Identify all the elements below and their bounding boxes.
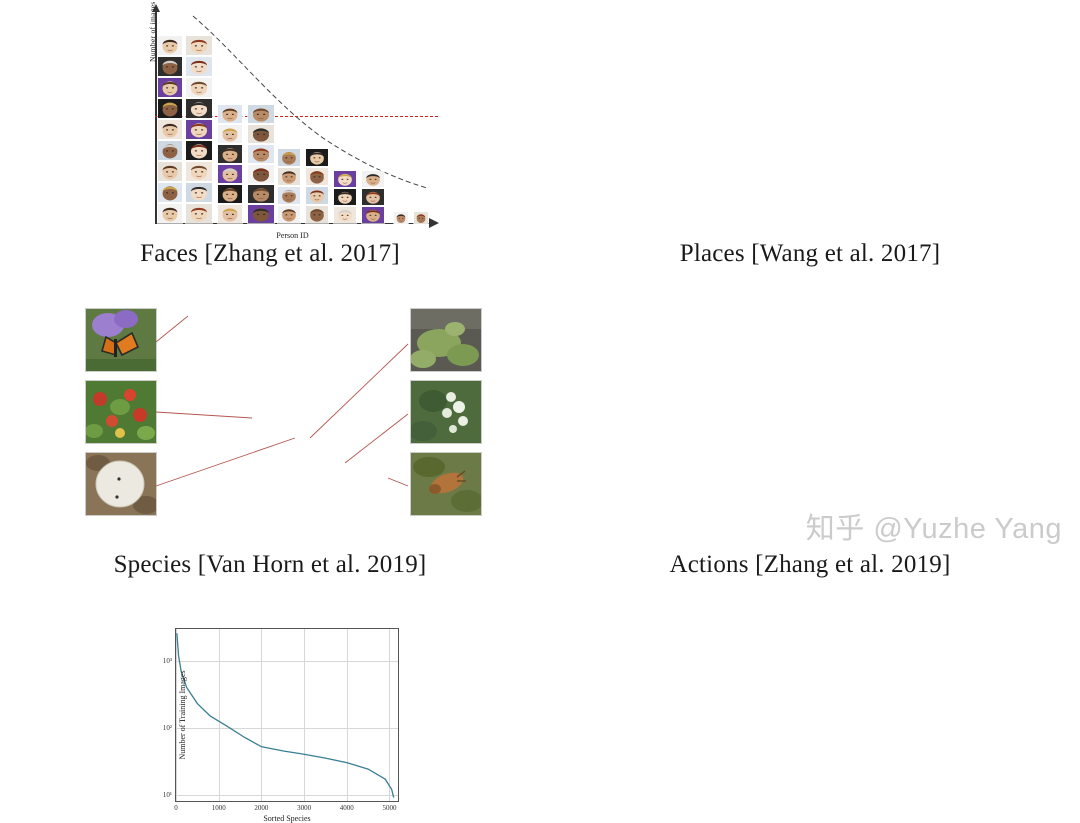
face-thumbnail	[305, 186, 329, 205]
face-thumbnail	[333, 206, 357, 224]
faces-column	[393, 210, 409, 224]
face-thumbnail	[157, 119, 183, 140]
face-thumbnail	[217, 104, 243, 124]
species-y-tick-label: 10¹	[163, 791, 172, 799]
panel-species: 10¹10²10³ 010002000300040005000 Number o…	[0, 296, 540, 591]
faces-column	[361, 170, 385, 224]
panel-faces: Number of images per person Person ID	[0, 0, 540, 296]
places-figure: 020040060080010001200 050100150200250300…	[540, 0, 1080, 238]
actions-figure: 0200004000060000800001000001200001400001…	[540, 296, 1080, 518]
faces-column	[305, 148, 329, 224]
species-curve	[176, 629, 398, 801]
faces-column	[277, 148, 301, 224]
face-thumbnail	[247, 144, 275, 164]
face-thumbnail	[361, 170, 385, 188]
face-thumbnail	[393, 210, 409, 224]
species-plot-area: 10¹10²10³ 010002000300040005000 Number o…	[175, 628, 399, 802]
face-thumbnail	[157, 98, 183, 119]
face-thumbnail	[333, 188, 357, 206]
face-thumbnail	[247, 164, 275, 184]
species-figure: 10¹10²10³ 010002000300040005000 Number o…	[0, 296, 540, 518]
faces-column	[333, 170, 357, 224]
face-thumbnail	[185, 161, 213, 182]
face-thumbnail	[247, 104, 275, 124]
faces-column	[217, 104, 243, 224]
face-thumbnail	[277, 167, 301, 186]
face-thumbnail	[157, 56, 183, 77]
face-thumbnail	[185, 119, 213, 140]
actions-caption: Actions [Zhang et al. 2019]	[540, 551, 1080, 579]
species-leader-lines	[0, 296, 540, 518]
face-thumbnail	[247, 124, 275, 144]
faces-column	[185, 35, 213, 224]
face-thumbnail	[413, 210, 429, 224]
places-caption: Places [Wang et al. 2017]	[540, 240, 1080, 268]
species-caption: Species [Van Horn et al. 2019]	[0, 551, 540, 579]
face-thumbnail	[157, 35, 183, 56]
figure-grid: Number of images per person Person ID	[0, 0, 1080, 591]
face-thumbnail	[157, 140, 183, 161]
face-thumbnail	[185, 35, 213, 56]
face-thumbnail	[305, 148, 329, 167]
species-x-axis-title: Sorted Species	[176, 814, 398, 823]
face-thumbnail	[185, 182, 213, 203]
face-thumbnail	[333, 170, 357, 188]
face-thumbnail	[305, 167, 329, 186]
species-x-tick-label: 3000	[297, 804, 311, 812]
face-thumbnail	[217, 184, 243, 204]
species-y-tick-label: 10³	[163, 657, 172, 665]
face-thumbnail	[247, 184, 275, 204]
face-thumbnail	[277, 205, 301, 224]
face-thumbnail	[185, 140, 213, 161]
species-x-tick-label: 5000	[382, 804, 396, 812]
panel-actions: 0200004000060000800001000001200001400001…	[540, 296, 1080, 591]
panel-places: 020040060080010001200 050100150200250300…	[540, 0, 1080, 296]
species-y-axis-title: Number of Training Images	[178, 670, 187, 759]
species-x-tick-label: 1000	[212, 804, 226, 812]
face-thumbnail	[157, 161, 183, 182]
face-thumbnail	[157, 77, 183, 98]
face-thumbnail	[217, 204, 243, 224]
faces-caption: Faces [Zhang et al. 2017]	[0, 240, 540, 268]
species-x-tick-label: 0	[174, 804, 178, 812]
faces-figure: Number of images per person Person ID	[0, 0, 540, 238]
face-thumbnail	[185, 77, 213, 98]
face-thumbnail	[361, 206, 385, 224]
face-thumbnail	[157, 182, 183, 203]
faces-plot-area: Person ID	[155, 12, 430, 224]
face-thumbnail	[157, 203, 183, 224]
face-thumbnail	[361, 188, 385, 206]
species-x-tick-label: 2000	[254, 804, 268, 812]
faces-column	[157, 35, 183, 224]
face-thumbnail	[185, 98, 213, 119]
faces-column	[413, 210, 429, 224]
face-thumbnail	[305, 205, 329, 224]
face-thumbnail	[217, 144, 243, 164]
face-thumbnail	[277, 148, 301, 167]
face-thumbnail	[277, 186, 301, 205]
face-thumbnail	[185, 203, 213, 224]
face-thumbnail	[217, 164, 243, 184]
face-thumbnail	[247, 204, 275, 224]
face-thumbnail	[185, 56, 213, 77]
face-thumbnail	[217, 124, 243, 144]
species-x-tick-label: 4000	[340, 804, 354, 812]
faces-column	[247, 104, 275, 224]
faces-x-axis-title: Person ID	[155, 231, 430, 240]
species-y-tick-label: 10²	[163, 724, 172, 732]
